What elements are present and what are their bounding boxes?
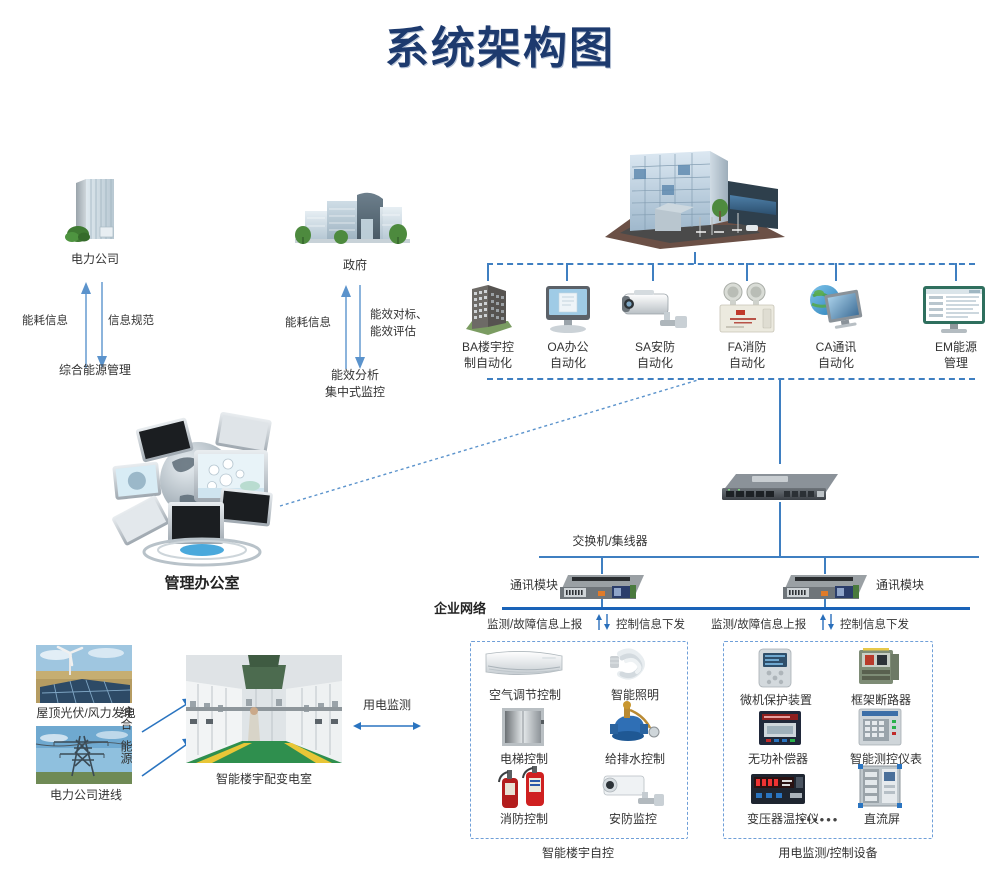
power-items-ellipsis: ••••••	[800, 812, 839, 827]
building-item-label-5: 消防控制	[484, 812, 564, 827]
emergency-light-icon	[716, 282, 778, 336]
system-connector-2	[566, 263, 568, 281]
switch-label: 交换机/集线器	[530, 534, 690, 549]
management-office-label: 管理办公室	[122, 572, 282, 593]
smart-building-icon	[600, 145, 790, 255]
building-item-label-1: 空气调节控制	[478, 688, 572, 703]
dc-power-cabinet-icon	[858, 764, 902, 808]
power-item-label-3: 无功补偿器	[735, 752, 821, 767]
enterprise-network-label: 企业网络	[434, 598, 500, 617]
power-item-label-2: 框架断路器	[838, 693, 924, 708]
building-item-label-3: 电梯控制	[484, 752, 564, 767]
comm-module-icon-right	[779, 569, 871, 601]
cfl-bulb-icon	[604, 644, 654, 684]
comm-module-label-left: 通讯模块	[488, 578, 558, 593]
globe-monitor-icon	[805, 282, 867, 336]
system-label-2-line2: 自动化	[527, 356, 609, 371]
tower-block-icon	[462, 281, 514, 336]
system-connector-4	[746, 263, 748, 281]
page-title: 系统架构图	[0, 12, 1000, 76]
office-tower-icon	[60, 175, 130, 245]
temperature-controller-icon	[750, 773, 806, 805]
systems-top-bus	[487, 263, 975, 265]
system-connector-1	[487, 263, 489, 281]
power-monitoring-caption: 用电监测/控制设备	[748, 846, 908, 861]
switch-downlink	[779, 502, 781, 556]
air-conditioner-icon	[484, 648, 564, 680]
building-automation-caption: 智能楼宇自控	[498, 846, 658, 861]
power-monitoring-arrow-label: 用电监测	[352, 698, 422, 713]
substation-label: 智能楼宇配变电室	[186, 772, 342, 787]
solar-wind-photo	[36, 645, 132, 703]
system-label-1-line1: BA楼宇控	[447, 340, 529, 355]
flow-label-left-up: 监测/故障信息上报	[487, 616, 582, 632]
flow-label-right-up: 监测/故障信息上报	[711, 616, 806, 632]
system-label-2-line1: OA办公	[527, 340, 609, 355]
office-to-bus-link	[280, 378, 700, 508]
system-label-3-line1: SA安防	[614, 340, 696, 355]
system-connector-3	[652, 263, 654, 281]
system-label-4-line2: 自动化	[706, 356, 788, 371]
comm-module-label-right: 通讯模块	[876, 578, 956, 593]
fire-extinguisher-icon	[496, 766, 556, 810]
switch-uplink	[779, 378, 781, 464]
system-label-6-line1: EM能源	[912, 340, 1000, 355]
protection-relay-icon	[757, 648, 793, 688]
network-switch-icon	[718, 466, 842, 502]
power-item-label-1: 微机保护装置	[728, 693, 824, 708]
building-item-label-4: 给排水控制	[588, 752, 682, 767]
desktop-monitor-icon	[540, 284, 596, 336]
government-building-icon	[295, 185, 410, 250]
system-label-3-line2: 自动化	[614, 356, 696, 371]
system-label-5-line2: 自动化	[795, 356, 877, 371]
dashboard-monitor-icon	[921, 284, 991, 336]
comm-module-icon-left	[556, 569, 648, 601]
security-camera-icon	[600, 772, 666, 810]
flow-arrows-right	[818, 613, 836, 631]
integrated-energy-label-2: 能源	[117, 740, 133, 764]
switchgear-room-photo	[186, 655, 342, 763]
air-circuit-breaker-icon	[855, 646, 901, 688]
reactive-compensator-icon	[758, 710, 802, 746]
government-down-label-1: 能效对标、	[370, 306, 428, 322]
enterprise-network-bus	[502, 607, 970, 610]
integrated-energy-management-label: 综合能源管理	[15, 363, 175, 378]
government-label: 政府	[285, 258, 425, 273]
water-valve-icon	[600, 700, 664, 748]
flow-label-left-down: 控制信息下发	[616, 616, 685, 632]
government-up-label: 能耗信息	[285, 314, 331, 330]
transmission-tower-label: 电力公司进线	[20, 788, 152, 803]
power-monitoring-arrow	[352, 718, 422, 734]
power-company-up-label: 能耗信息	[22, 312, 68, 328]
module-distribution-bus	[539, 556, 979, 558]
government-down-label-2: 能效评估	[370, 323, 416, 339]
system-connector-6	[955, 263, 957, 281]
system-connector-5	[835, 263, 837, 281]
elevator-icon	[500, 706, 548, 748]
flow-arrows-left	[594, 613, 612, 631]
multi-screen-globe-icon	[110, 410, 295, 570]
system-label-1-line2: 制自动化	[447, 356, 529, 371]
integrated-energy-label-1: 综合	[117, 706, 133, 730]
system-label-5-line1: CA通讯	[795, 340, 877, 355]
flow-label-right-down: 控制信息下发	[840, 616, 909, 632]
power-company-down-label: 信息规范	[108, 312, 154, 328]
power-item-label-6: 直流屏	[848, 812, 916, 827]
smart-meter-icon	[858, 708, 902, 746]
cctv-camera-icon	[620, 286, 690, 336]
building-item-label-6: 安防监控	[590, 812, 676, 827]
system-label-4-line1: FA消防	[706, 340, 788, 355]
power-company-label: 电力公司	[25, 252, 165, 267]
system-label-6-line2: 管理	[912, 356, 1000, 371]
